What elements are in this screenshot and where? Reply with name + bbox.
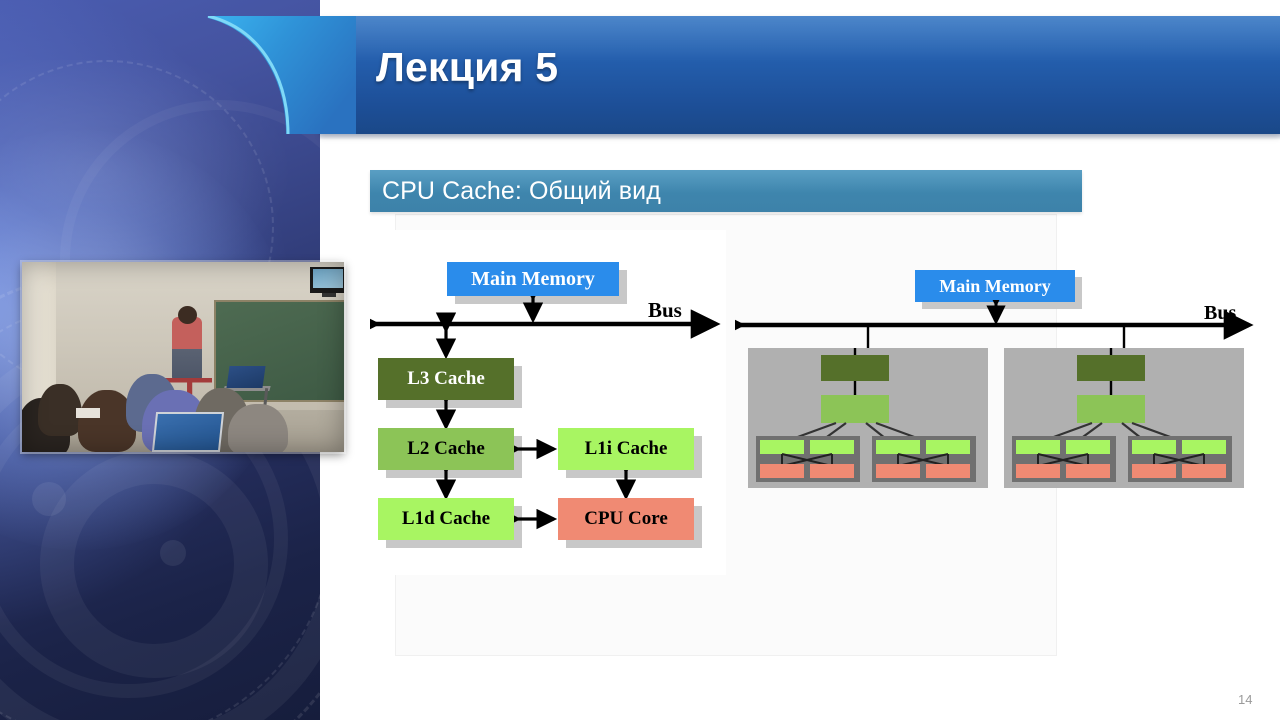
header-drop-shadow — [320, 134, 1280, 140]
cpu-package-2 — [1004, 348, 1244, 488]
core-block — [876, 464, 920, 478]
slide-title-bar: CPU Cache: Общий вид — [370, 170, 1082, 212]
pkg1-cluster-1 — [756, 436, 860, 482]
core-block — [1016, 464, 1060, 478]
l2-cache-box: L2 Cache — [378, 428, 514, 470]
cpu-core-box: CPU Core — [558, 498, 694, 540]
page-title: Лекция 5 — [376, 44, 558, 91]
pkg2-cluster-1 — [1012, 436, 1116, 482]
l1i-cache-box: L1i Cache — [558, 428, 694, 470]
core-block — [1182, 464, 1226, 478]
decor-dot-b — [160, 540, 186, 566]
right-main-memory-box: Main Memory — [915, 270, 1075, 302]
main-memory-box: Main Memory — [447, 262, 619, 296]
core-block — [1132, 464, 1176, 478]
l1d-cache-box: L1d Cache — [378, 498, 514, 540]
pkg2-cluster-2 — [1128, 436, 1232, 482]
video-vignette — [22, 262, 344, 452]
core-block — [926, 464, 970, 478]
lecture-video-thumbnail[interactable] — [22, 262, 344, 452]
right-bus-label: Bus — [1204, 302, 1236, 325]
core-block — [760, 464, 804, 478]
core-block — [810, 464, 854, 478]
cpu-package-1 — [748, 348, 988, 488]
pkg1-cluster-2 — [872, 436, 976, 482]
page-number: 14 — [1238, 692, 1252, 707]
decor-dot-a — [32, 482, 66, 516]
slide-screenshot: Лекция 5 CPU Cache: Общий вид — [0, 0, 1280, 720]
l3-cache-box: L3 Cache — [378, 358, 514, 400]
header-curve-wedge — [196, 16, 356, 134]
core-block — [1066, 464, 1110, 478]
left-bus-label: Bus — [648, 298, 682, 323]
slide-title-text: CPU Cache: Общий вид — [382, 177, 661, 206]
